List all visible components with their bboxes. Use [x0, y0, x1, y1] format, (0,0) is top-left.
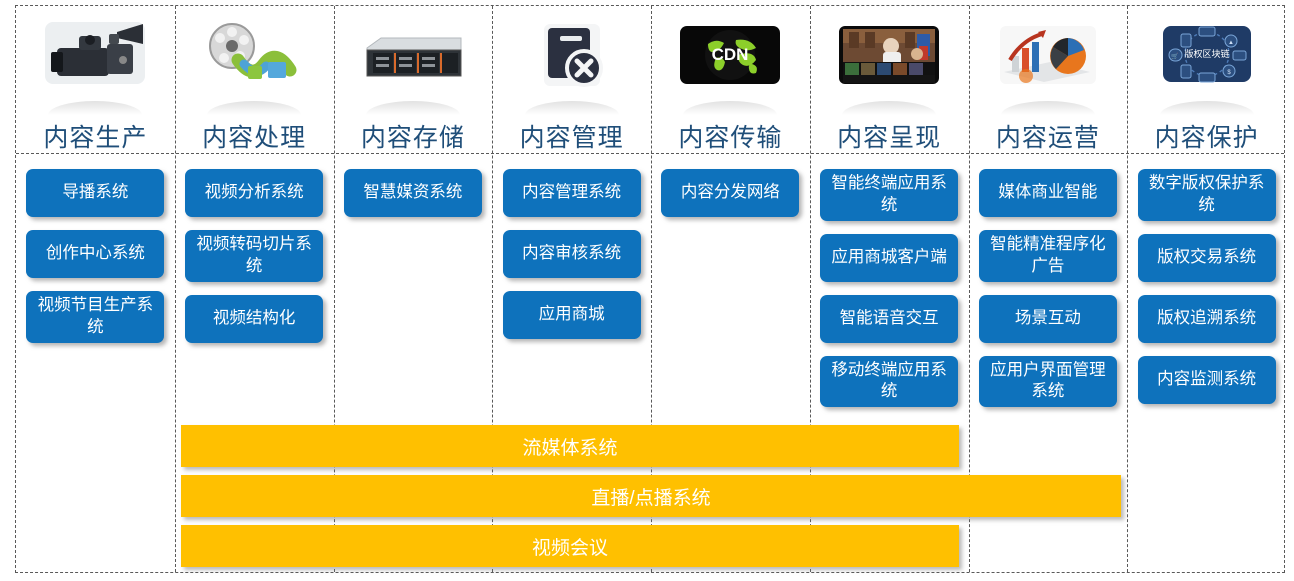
image-reflection	[48, 101, 142, 115]
platform-bar-streaming[interactable]: 流媒体系统	[181, 425, 959, 467]
column-title: 内容传输	[678, 118, 782, 154]
column-title: 内容存储	[361, 118, 465, 154]
platform-bar-live-vod[interactable]: 直播/点播系统	[181, 475, 1121, 517]
diagram-frame: 内容生产 导播系统 创作中心系统 视频节目生产系统 内容处理	[15, 5, 1285, 573]
column-content-protection: ▲ $ 🛒 版权区块链 内容保护	[1127, 6, 1286, 154]
column-title: 内容呈现	[837, 118, 941, 154]
image-reflection	[525, 101, 619, 115]
column-items-content-processing: 视频分析系统 视频转码切片系统 视频结构化	[175, 169, 334, 343]
blockchain-copyright-icon: ▲ $ 🛒 版权区块链	[1151, 18, 1263, 102]
system-box[interactable]: 应用商城	[503, 291, 641, 339]
column-title: 内容管理	[520, 118, 624, 154]
system-box[interactable]: 智能语音交互	[820, 295, 958, 343]
column-content-storage: 内容存储	[334, 6, 493, 154]
film-reel-icon	[198, 18, 310, 102]
system-box[interactable]: 视频转码切片系统	[185, 230, 323, 282]
system-box[interactable]: 智能精准程序化广告	[979, 230, 1117, 282]
system-box[interactable]: 版权交易系统	[1138, 234, 1276, 282]
column-title: 内容处理	[202, 118, 306, 154]
system-box[interactable]: 应用户界面管理系统	[979, 356, 1117, 408]
system-box[interactable]: 内容审核系统	[503, 230, 641, 278]
column-content-delivery: CDN 内容传输	[651, 6, 810, 154]
column-content-operations: 内容运营	[969, 6, 1128, 154]
column-items-content-protection: 数字版权保护系统 版权交易系统 版权追溯系统 内容监测系统	[1127, 169, 1286, 404]
blockchain-label: 版权区块链	[1184, 48, 1229, 59]
video-camera-icon	[39, 18, 151, 102]
column-items-content-management: 内容管理系统 内容审核系统 应用商城	[492, 169, 651, 339]
system-box[interactable]: 数字版权保护系统	[1138, 169, 1276, 221]
system-box[interactable]: 媒体商业智能	[979, 169, 1117, 217]
column-content-presentation: 内容呈现	[810, 6, 969, 154]
document-block-icon	[516, 18, 628, 102]
system-box[interactable]: 创作中心系统	[26, 230, 164, 278]
column-items-content-presentation: 智能终端应用系统 应用商城客户端 智能语音交互 移动终端应用系统	[810, 169, 969, 407]
smart-tv-icon	[833, 18, 945, 102]
system-box[interactable]: 智慧媒资系统	[344, 169, 482, 217]
platform-bar-video-conference[interactable]: 视频会议	[181, 525, 959, 567]
system-box[interactable]: 导播系统	[26, 169, 164, 217]
svg-text:🛒: 🛒	[1171, 52, 1179, 60]
image-reflection	[1160, 101, 1254, 115]
cdn-label: CDN	[712, 45, 749, 64]
system-box[interactable]: 智能终端应用系统	[820, 169, 958, 221]
server-rack-icon	[357, 18, 469, 102]
svg-text:▲: ▲	[1228, 40, 1234, 46]
system-box[interactable]: 版权追溯系统	[1138, 295, 1276, 343]
system-box[interactable]: 应用商城客户端	[820, 234, 958, 282]
column-content-processing: 内容处理	[175, 6, 334, 154]
column-title: 内容生产	[43, 118, 147, 154]
system-box[interactable]: 视频分析系统	[185, 169, 323, 217]
system-box[interactable]: 视频节目生产系统	[26, 291, 164, 343]
system-box[interactable]: 场景互动	[979, 295, 1117, 343]
system-box[interactable]: 移动终端应用系统	[820, 356, 958, 408]
system-box[interactable]: 内容监测系统	[1138, 356, 1276, 404]
image-reflection	[366, 101, 460, 115]
column-items-content-delivery: 内容分发网络	[651, 169, 810, 217]
column-items-content-operations: 媒体商业智能 智能精准程序化广告 场景互动 应用户界面管理系统	[969, 169, 1128, 407]
system-box[interactable]: 内容管理系统	[503, 169, 641, 217]
column-items-content-production: 导播系统 创作中心系统 视频节目生产系统	[16, 169, 175, 343]
cdn-globe-icon: CDN	[674, 18, 786, 102]
image-reflection	[1001, 101, 1095, 115]
analytics-chart-icon	[992, 18, 1104, 102]
system-box[interactable]: 内容分发网络	[661, 169, 799, 217]
image-reflection	[842, 101, 936, 115]
image-reflection	[207, 101, 301, 115]
column-title: 内容保护	[1155, 118, 1259, 154]
column-content-management: 内容管理	[492, 6, 651, 154]
column-content-production: 内容生产	[16, 6, 175, 154]
column-items-content-storage: 智慧媒资系统	[334, 169, 493, 217]
system-box[interactable]: 视频结构化	[185, 295, 323, 343]
image-reflection	[683, 101, 777, 115]
column-title: 内容运营	[996, 118, 1100, 154]
